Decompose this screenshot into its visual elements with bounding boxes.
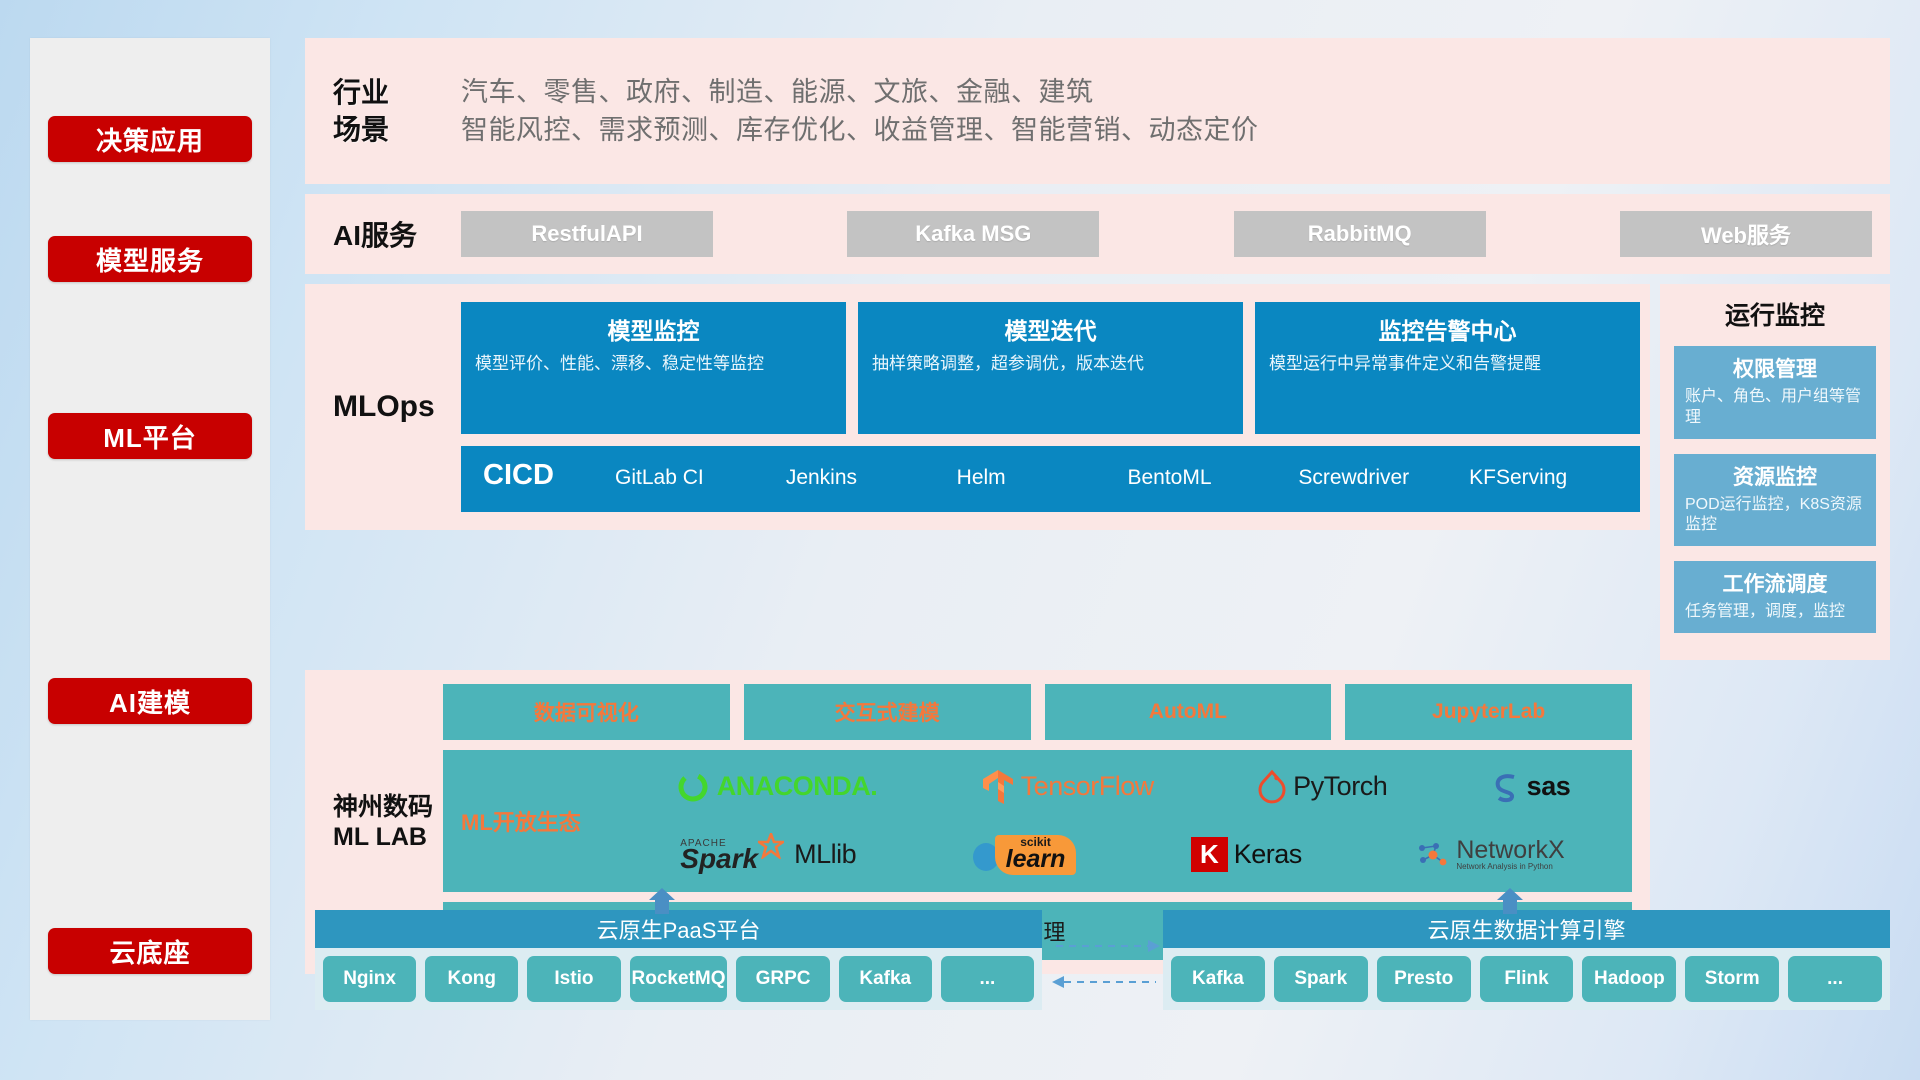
mlops-card-group: 模型监控 模型评价、性能、漂移、稳定性等监控 模型迭代 抽样策略调整，超参调优，… <box>461 302 1640 434</box>
pill-label: Flink <box>1504 969 1548 989</box>
ai-service-chip-rabbitmq[interactable]: RabbitMQ <box>1234 211 1486 257</box>
card-title: 监控告警中心 <box>1269 312 1626 346</box>
rail-item-decision-app[interactable]: 决策应用 <box>48 116 252 162</box>
decision-app-band: 行业 场景 汽车、零售、政府、制造、能源、文旅、金融、建筑 智能风控、需求预测、… <box>305 38 1890 184</box>
card-desc: POD运行监控，K8S资源监控 <box>1685 495 1865 537</box>
runtime-monitoring-column: 运行监控 权限管理 账户、角色、用户组等管理 资源监控 POD运行监控，K8S资… <box>1660 284 1890 660</box>
card-title: 工作流调度 <box>1685 568 1865 598</box>
ai-service-chip-kafka-msg[interactable]: Kafka MSG <box>847 211 1099 257</box>
rail-item-label: 模型服务 <box>96 241 204 278</box>
anaconda-logo: ANACONDA. <box>675 769 878 805</box>
cloud-pill-kafka[interactable]: Kafka <box>839 956 932 1002</box>
scikit-learn-logo: scikit learn <box>971 835 1077 875</box>
tensorflow-logo: TensorFlow <box>981 768 1154 806</box>
card-title: 模型迭代 <box>872 312 1229 346</box>
pill-label: RocketMQ <box>632 969 726 989</box>
chip-label: RabbitMQ <box>1308 221 1412 247</box>
cicd-item-gitlab-ci[interactable]: GitLab CI <box>615 446 786 493</box>
ml-platform-zone: MLOps 模型监控 模型评价、性能、漂移、稳定性等监控 模型迭代 抽样策略调整… <box>305 284 1890 660</box>
tool-chip-data-visualization[interactable]: 数据可视化 <box>443 684 730 740</box>
rail-item-ai-modeling[interactable]: AI建模 <box>48 678 252 724</box>
logo-line-bottom: APACHE Spark MLlib <box>623 822 1622 888</box>
tool-chip-automl[interactable]: AutoML <box>1045 684 1332 740</box>
mlops-label: MLOps <box>333 390 461 424</box>
chip-label: 交互式建模 <box>835 697 940 727</box>
tensorflow-label: TensorFlow <box>1021 771 1154 802</box>
cicd-item-kfserving[interactable]: KFServing <box>1469 446 1640 493</box>
networkx-label: NetworkX <box>1456 838 1564 863</box>
tool-chip-interactive-modeling[interactable]: 交互式建模 <box>744 684 1031 740</box>
cloud-pill-hadoop[interactable]: Hadoop <box>1582 956 1676 1002</box>
keras-label: Keras <box>1234 839 1302 870</box>
card-desc: 账户、角色、用户组等管理 <box>1685 387 1865 429</box>
mlops-card-model-iteration[interactable]: 模型迭代 抽样策略调整，超参调优，版本迭代 <box>858 302 1243 434</box>
sas-label: sas <box>1527 771 1571 802</box>
cicd-item-jenkins[interactable]: Jenkins <box>786 446 957 493</box>
ml-ecosystem-row: ML开放生态 ANACONDA. <box>443 750 1632 892</box>
pill-label: Presto <box>1394 969 1453 989</box>
rail-item-label: ML平台 <box>103 418 197 455</box>
cicd-label: CICD <box>483 446 615 492</box>
mlops-band: MLOps 模型监控 模型评价、性能、漂移、稳定性等监控 模型迭代 抽样策略调整… <box>305 284 1650 530</box>
chip-label: JupyterLab <box>1432 700 1545 724</box>
cloud-pill-kafka-engine[interactable]: Kafka <box>1171 956 1265 1002</box>
bidirectional-dashed-link-icon <box>1050 934 1162 996</box>
rail-item-label: 云底座 <box>109 933 190 970</box>
pill-label: Storm <box>1705 969 1760 989</box>
ml-lab-label: 神州数码 ML LAB <box>333 792 443 852</box>
rail-item-cloud-foundation[interactable]: 云底座 <box>48 928 252 974</box>
anaconda-ring-icon <box>675 769 711 805</box>
tensorflow-icon <box>981 768 1015 806</box>
cloud-pill-storm[interactable]: Storm <box>1685 956 1779 1002</box>
cloud-pill-rocketmq[interactable]: RocketMQ <box>630 956 728 1002</box>
cloud-pill-presto[interactable]: Presto <box>1377 956 1471 1002</box>
industry-label: 行业 <box>333 79 461 107</box>
pill-label: Nginx <box>343 969 396 989</box>
cloud-engine-pill-group: Kafka Spark Presto Flink Hadoop Storm ..… <box>1163 948 1890 1010</box>
ai-service-label: AI服务 <box>333 214 461 254</box>
card-title: 权限管理 <box>1685 353 1865 383</box>
networkx-graph-icon <box>1416 840 1450 870</box>
chip-label: Web服务 <box>1701 218 1791 250</box>
runtime-monitoring-title: 运行监控 <box>1674 296 1876 332</box>
scenario-list: 智能风控、需求预测、库存优化、收益管理、智能营销、动态定价 <box>461 117 1890 144</box>
cloud-pill-grpc[interactable]: GRPC <box>736 956 829 1002</box>
card-desc: 模型评价、性能、漂移、稳定性等监控 <box>475 353 832 375</box>
chip-label: 数据可视化 <box>534 697 639 727</box>
ml-lab-label-line2: ML LAB <box>333 822 443 852</box>
tool-chip-jupyterlab[interactable]: JupyterLab <box>1345 684 1632 740</box>
pill-label: Spark <box>1294 969 1347 989</box>
rail-item-label: AI建模 <box>109 683 191 720</box>
ml-ecosystem-label: ML开放生态 <box>461 805 623 837</box>
ml-lab-tool-group: 数据可视化 交互式建模 AutoML JupyterLab <box>443 684 1632 740</box>
pill-label: GRPC <box>756 969 811 989</box>
sas-logo: sas <box>1491 771 1571 803</box>
rail-item-model-service[interactable]: 模型服务 <box>48 236 252 282</box>
pill-label: Kong <box>447 969 496 989</box>
up-arrow-icon <box>1493 888 1527 914</box>
cloud-pill-spark[interactable]: Spark <box>1274 956 1368 1002</box>
pill-label: Istio <box>554 969 593 989</box>
logo-line-top: ANACONDA. TensorFlow <box>623 754 1622 820</box>
anaconda-label: ANACONDA. <box>717 771 878 802</box>
ml-ecosystem-logos: ANACONDA. TensorFlow <box>623 754 1622 888</box>
up-arrow-icon <box>645 888 679 914</box>
cloud-pill-istio[interactable]: Istio <box>527 956 620 1002</box>
chip-label: Kafka MSG <box>915 221 1031 247</box>
decision-app-labels: 行业 场景 <box>333 70 461 153</box>
card-title: 资源监控 <box>1685 461 1865 491</box>
pill-label: Kafka <box>859 969 911 989</box>
chip-label: AutoML <box>1149 700 1227 724</box>
cloud-pill-kong[interactable]: Kong <box>425 956 518 1002</box>
cloud-pill-more-engine[interactable]: ... <box>1788 956 1882 1002</box>
cicd-item-group: GitLab CI Jenkins Helm BentoML Screwdriv… <box>615 446 1640 493</box>
cloud-paas-pill-group: Nginx Kong Istio RocketMQ GRPC Kafka ... <box>315 948 1042 1010</box>
cicd-item-helm[interactable]: Helm <box>957 446 1128 493</box>
pytorch-flame-icon <box>1257 769 1287 805</box>
mllib-label: MLlib <box>794 839 856 870</box>
rail-item-ml-platform[interactable]: ML平台 <box>48 413 252 459</box>
pytorch-label: PyTorch <box>1293 771 1387 802</box>
card-title: 模型监控 <box>475 312 832 346</box>
pill-label: Hadoop <box>1594 969 1665 989</box>
mlops-card-model-monitoring[interactable]: 模型监控 模型评价、性能、漂移、稳定性等监控 <box>461 302 846 434</box>
sas-swirl-icon <box>1491 771 1521 803</box>
cloud-foundation-zone: 云原生PaaS平台 Nginx Kong Istio RocketMQ GRPC… <box>305 890 1890 1040</box>
cicd-bar: CICD GitLab CI Jenkins Helm BentoML Scre… <box>461 446 1640 512</box>
card-desc: 任务管理，调度，监控 <box>1685 602 1865 623</box>
card-desc: 模型运行中异常事件定义和告警提醒 <box>1269 353 1626 375</box>
layer-rail: 决策应用 模型服务 ML平台 AI建模 云底座 <box>30 38 270 1020</box>
spark-label: Spark <box>680 848 758 870</box>
mlops-content: 模型监控 模型评价、性能、漂移、稳定性等监控 模型迭代 抽样策略调整，超参调优，… <box>461 302 1650 512</box>
scenario-label: 场景 <box>333 116 461 144</box>
architecture-stack: 行业 场景 汽车、零售、政府、制造、能源、文旅、金融、建筑 智能风控、需求预测、… <box>305 38 1890 974</box>
keras-k-icon: K <box>1191 837 1228 872</box>
pill-label: Kafka <box>1192 969 1244 989</box>
decision-app-values: 汽车、零售、政府、制造、能源、文旅、金融、建筑 智能风控、需求预测、库存优化、收… <box>461 68 1890 155</box>
pytorch-logo: PyTorch <box>1257 769 1387 805</box>
cloud-pill-flink[interactable]: Flink <box>1480 956 1574 1002</box>
spark-mllib-logo: APACHE Spark MLlib <box>680 839 856 870</box>
chip-label: RestfulAPI <box>531 221 642 247</box>
ai-service-band: AI服务 RestfulAPI Kafka MSG RabbitMQ Web服务 <box>305 194 1890 274</box>
networkx-sub-label: Network Analysis in Python <box>1456 863 1564 871</box>
card-desc: 抽样策略调整，超参调优，版本迭代 <box>872 353 1229 375</box>
industry-list: 汽车、零售、政府、制造、能源、文旅、金融、建筑 <box>461 79 1890 106</box>
cloud-engine-group: 云原生数据计算引擎 Kafka Spark Presto Flink Hadoo… <box>1163 910 1890 1010</box>
scikit-learn-label: learn <box>1006 848 1066 872</box>
monitor-card-permission[interactable]: 权限管理 账户、角色、用户组等管理 <box>1674 346 1876 439</box>
cloud-engine-title: 云原生数据计算引擎 <box>1163 910 1890 948</box>
ai-service-chip-restfulapi[interactable]: RestfulAPI <box>461 211 713 257</box>
keras-logo: K Keras <box>1191 837 1302 872</box>
cloud-pill-more[interactable]: ... <box>941 956 1034 1002</box>
ml-lab-label-line1: 神州数码 <box>333 792 443 822</box>
networkx-logo: NetworkX Network Analysis in Python <box>1416 838 1564 871</box>
spark-star-icon <box>758 833 784 859</box>
cloud-paas-group: 云原生PaaS平台 Nginx Kong Istio RocketMQ GRPC… <box>315 910 1042 1010</box>
rail-item-label: 决策应用 <box>96 121 204 158</box>
mlops-card-alert-center[interactable]: 监控告警中心 模型运行中异常事件定义和告警提醒 <box>1255 302 1640 434</box>
monitor-card-workflow[interactable]: 工作流调度 任务管理，调度，监控 <box>1674 561 1876 633</box>
cicd-item-screwdriver[interactable]: Screwdriver <box>1298 446 1469 493</box>
ai-service-chip-group: RestfulAPI Kafka MSG RabbitMQ Web服务 <box>461 211 1890 257</box>
cloud-paas-title: 云原生PaaS平台 <box>315 910 1042 948</box>
pill-label: ... <box>979 969 995 989</box>
ai-service-chip-web-service[interactable]: Web服务 <box>1620 211 1872 257</box>
cicd-item-bentoml[interactable]: BentoML <box>1127 446 1298 493</box>
scikit-badge: scikit learn <box>995 835 1077 875</box>
pill-label: ... <box>1827 969 1843 989</box>
monitor-card-resource[interactable]: 资源监控 POD运行监控，K8S资源监控 <box>1674 454 1876 547</box>
cloud-pill-nginx[interactable]: Nginx <box>323 956 416 1002</box>
